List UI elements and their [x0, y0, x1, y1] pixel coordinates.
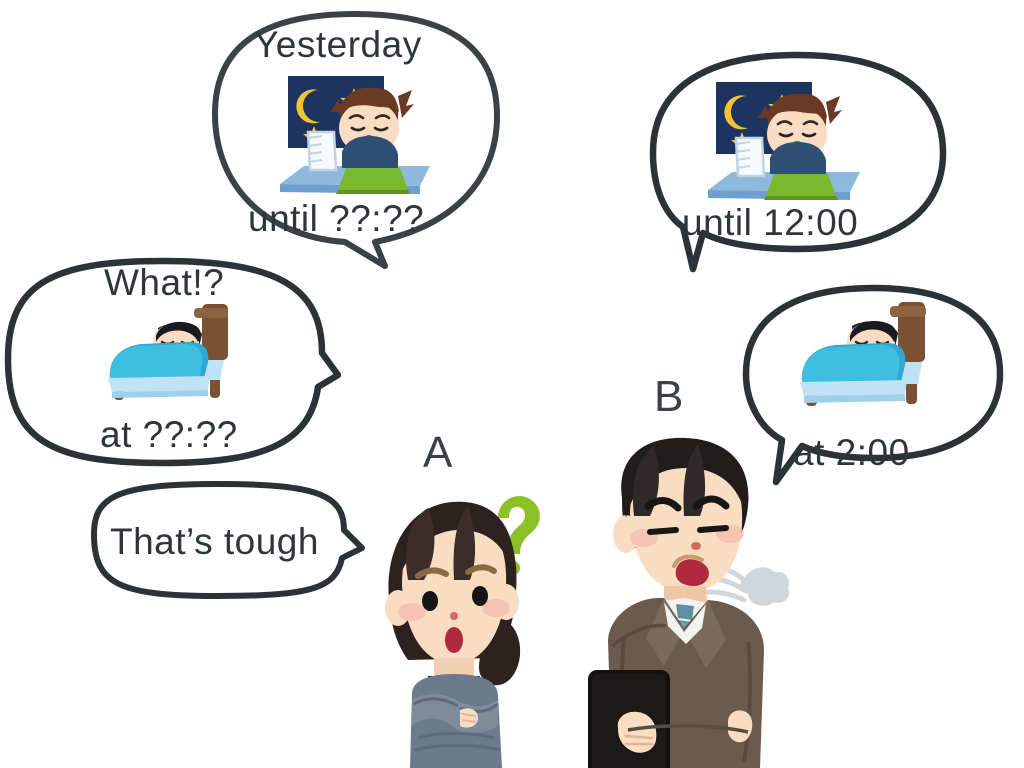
sleeping-in-bed-icon — [98, 298, 243, 410]
bubble-tough-text: That’s tough — [110, 521, 319, 563]
bubble-what-time: at ??:?? — [100, 414, 238, 456]
character-label-b: B — [654, 372, 683, 422]
night-study-icon — [700, 78, 872, 206]
sleeping-in-bed-icon — [790, 296, 942, 416]
bubble-until12-time: until 12:00 — [682, 202, 858, 244]
night-study-icon — [272, 72, 442, 200]
character-tired-businessman — [572, 430, 804, 768]
bubble-at2-time: at 2:00 — [793, 432, 910, 474]
scene-canvas: Yesterday until ??:?? until 12:00 — [0, 0, 1024, 768]
bubble-yesterday-time: until ??:?? — [248, 198, 424, 240]
character-label-a: A — [423, 428, 452, 478]
character-woman-confused — [368, 488, 558, 768]
bubble-yesterday-title: Yesterday — [254, 24, 422, 66]
